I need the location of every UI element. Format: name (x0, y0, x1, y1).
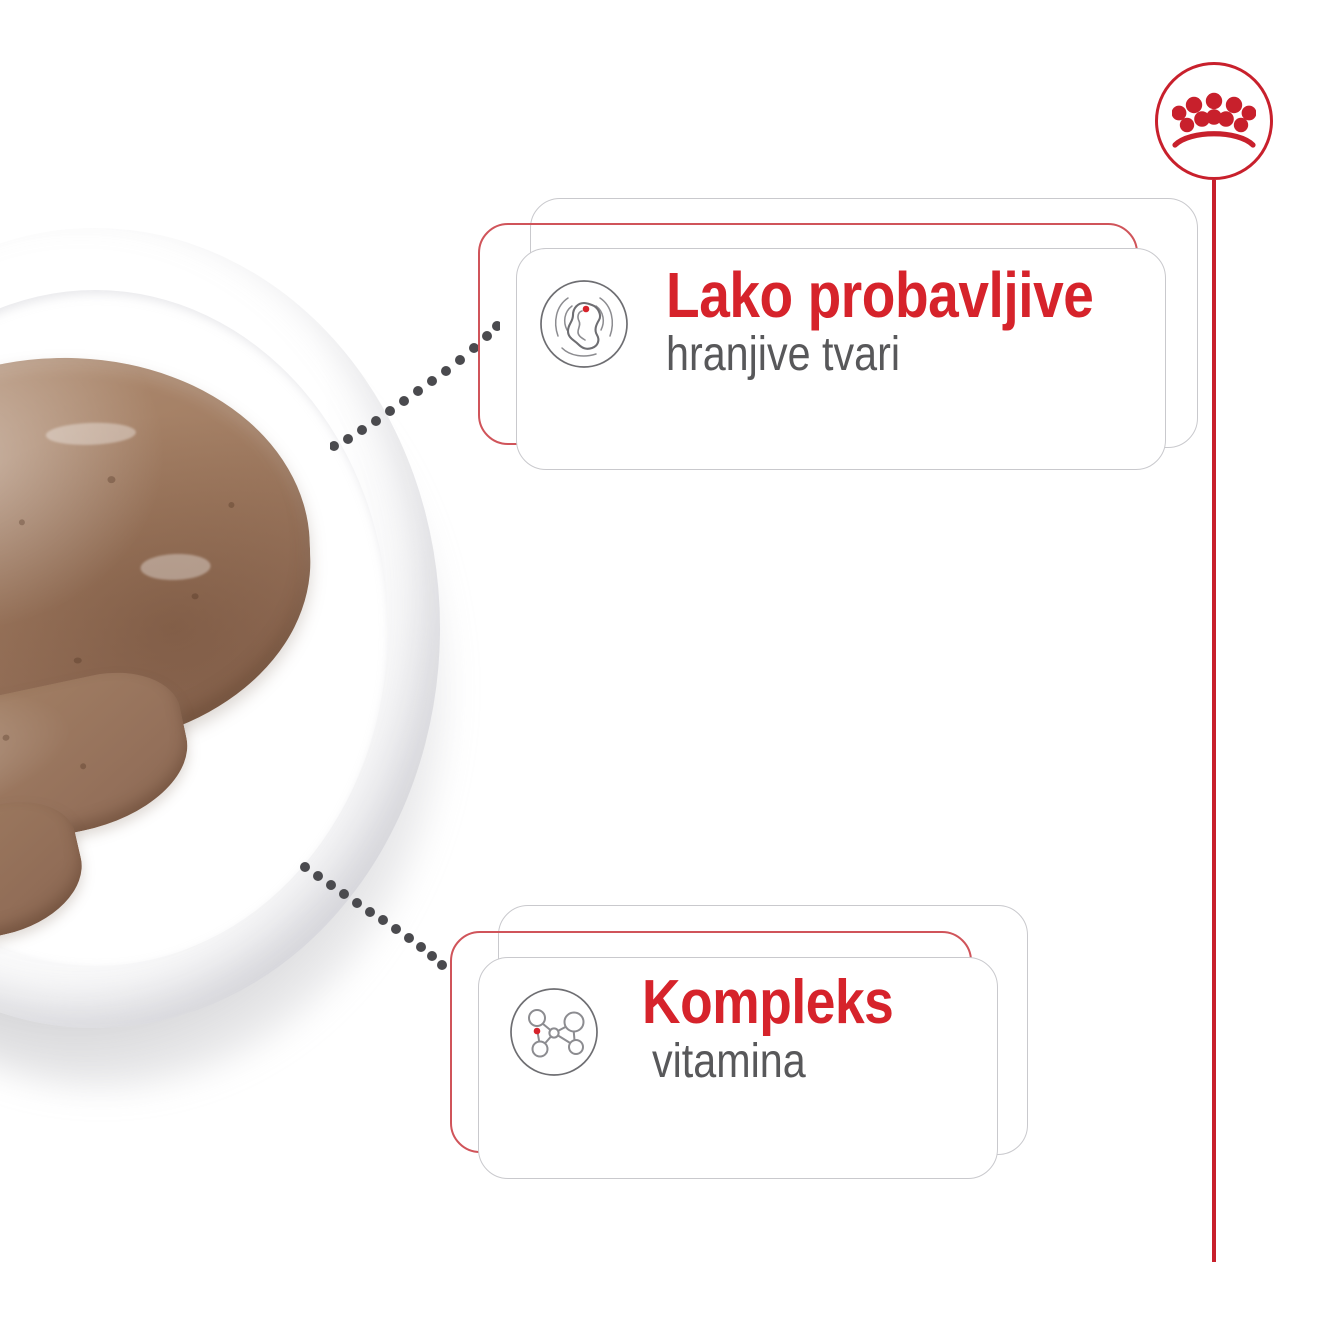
infographic-canvas: Lako probavljive hranjive tvari (0, 0, 1320, 1320)
card-content: Lako probavljive hranjive tvari (538, 264, 1163, 383)
royal-canin-logo (1155, 62, 1273, 180)
feature-subtitle: vitamina (652, 1034, 895, 1091)
feature-card-digestibility[interactable]: Lako probavljive hranjive tvari (478, 198, 1198, 488)
connector-to-vitamin-card (300, 862, 450, 977)
brand-vertical-line (1212, 180, 1216, 1262)
feature-card-vitamin-complex[interactable]: Kompleks vitamina (450, 905, 1020, 1195)
icon-accent-dot (534, 1027, 541, 1034)
feature-title: Lako probavljive (666, 264, 1093, 327)
feature-subtitle: hranjive tvari (666, 327, 1093, 384)
feature-title: Kompleks (642, 973, 893, 1034)
feature-text-block: Lako probavljive hranjive tvari (666, 264, 1163, 383)
feature-text-block: Kompleks vitamina (642, 973, 934, 1090)
icon-accent-dot (583, 305, 590, 312)
card-content: Kompleks vitamina (508, 973, 934, 1090)
digestive-tract-icon (538, 278, 630, 370)
connector-to-digestibility-card (330, 315, 500, 455)
vitamin-molecule-icon (508, 986, 600, 1078)
crown-icon (1172, 92, 1256, 150)
